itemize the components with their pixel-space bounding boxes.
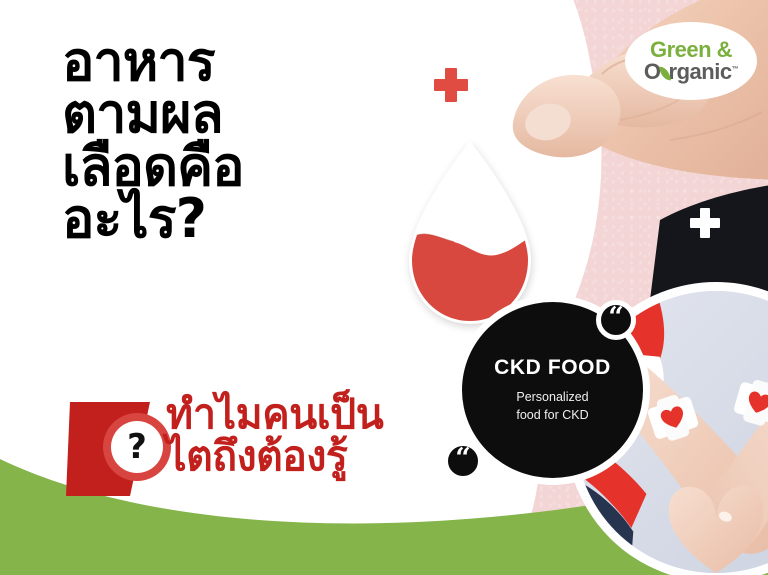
poster-canvas: Green & O rganic ™ อาหาร ตามผล เลือดคือ … bbox=[0, 0, 768, 575]
badge-title: CKD FOOD bbox=[494, 356, 611, 380]
badge-subtitle-line-1: Personalized bbox=[516, 388, 588, 406]
headline: อาหาร ตามผล เลือดคือ อะไร? bbox=[62, 36, 392, 246]
quote-mark-top-right: “ bbox=[596, 300, 636, 340]
logo-organic-o: O bbox=[644, 61, 661, 83]
subheadline-text: ทำไมคนเป็น ไตถึงต้องรู้ bbox=[166, 394, 383, 478]
headline-line-4: อะไร? bbox=[62, 193, 392, 245]
headline-line-1: อาหาร bbox=[62, 36, 392, 88]
plus-icon-white bbox=[690, 208, 720, 238]
blood-drop-icon bbox=[404, 142, 536, 327]
quote-glyph: “ bbox=[455, 445, 471, 472]
headline-line-3: เลือดคือ bbox=[62, 141, 392, 193]
plus-icon-horizontal-bar bbox=[434, 79, 468, 91]
subheadline-line-1: ทำไมคนเป็น bbox=[166, 394, 383, 436]
logo-line-organic: O rganic ™ bbox=[644, 61, 738, 83]
trademark-symbol: ™ bbox=[732, 66, 739, 73]
quote-glyph: “ bbox=[608, 304, 624, 331]
question-mark-icon: ? bbox=[110, 420, 164, 474]
logo-line-green: Green & bbox=[650, 39, 732, 61]
subheadline-line-2: ไตถึงต้องรู้ bbox=[166, 436, 383, 478]
quote-mark-bottom-left: “ bbox=[443, 441, 483, 481]
plus-icon-red bbox=[434, 68, 468, 102]
headline-line-2: ตามผล bbox=[62, 88, 392, 140]
subheadline-group: ? ทำไมคนเป็น ไตถึงต้องรู้ bbox=[64, 396, 464, 506]
brand-logo: Green & O rganic ™ bbox=[625, 22, 757, 100]
logo-organic-rest: rganic bbox=[669, 61, 732, 83]
plus-icon-horizontal-bar bbox=[690, 218, 720, 228]
badge-subtitle-line-2: food for CKD bbox=[516, 406, 588, 424]
